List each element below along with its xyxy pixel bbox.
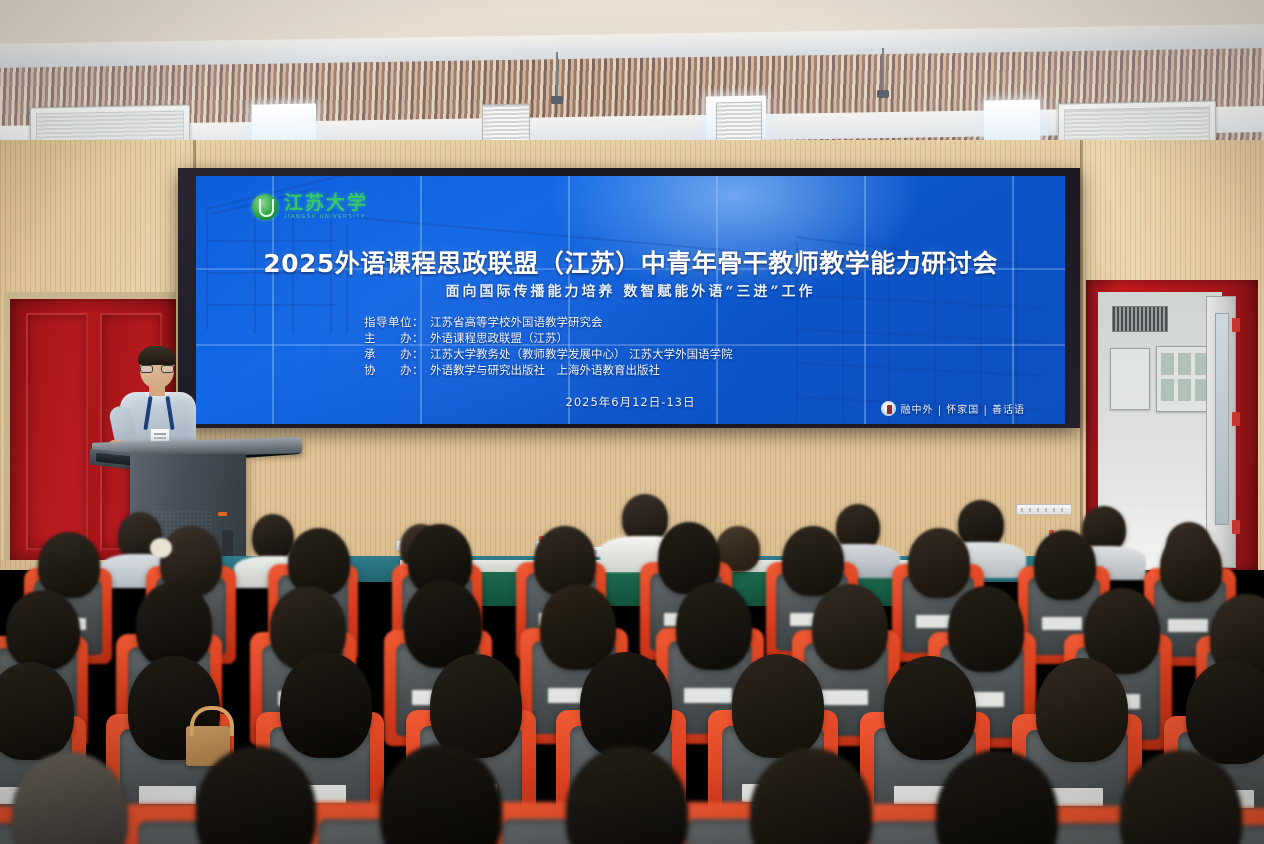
attendee-head — [580, 652, 672, 758]
credit-key: 承 办： — [364, 346, 430, 362]
conference-subtitle: 面向国际传播能力培养 数智赋能外语“三进”工作 — [196, 281, 1065, 301]
credit-line: 主 办： 外语课程思政联盟（江苏） — [364, 330, 924, 346]
attendee-hair-tie — [150, 538, 172, 558]
credit-value: 外语教学与研究出版社 上海外语教育出版社 — [430, 362, 660, 378]
credit-line: 协 办： 外语教学与研究出版社 上海外语教育出版社 — [364, 362, 924, 378]
lecture-hall-photo: 江苏大学 JIANGSU UNIVERSITY 2025外语课程思政联盟（江苏）… — [0, 0, 1264, 844]
board-cell — [1161, 379, 1174, 401]
credit-value: 外语课程思政联盟（江苏） — [430, 330, 568, 346]
attendee-head — [676, 582, 752, 670]
projector-mount-rod — [556, 52, 558, 98]
credit-line: 承 办： 江苏大学教务处（教师教学发展中心） 江苏大学外国语学院 — [364, 346, 924, 362]
attendee-head — [812, 584, 888, 670]
publisher-slogan: 融中外 | 怀家国 | 善话语 — [881, 401, 1025, 416]
board-cell — [1178, 353, 1191, 375]
credit-key: 协 办： — [364, 362, 430, 378]
door-hinge — [1232, 318, 1240, 332]
projector-mount-rod — [882, 48, 884, 92]
attendee-head — [948, 586, 1024, 672]
attendee-head — [252, 514, 294, 560]
attendee-head — [430, 654, 522, 758]
presenter-hair — [138, 346, 176, 365]
board-cell — [1161, 353, 1174, 375]
university-logo: 江苏大学 JIANGSU UNIVERSITY — [252, 194, 368, 220]
attendee-head — [280, 652, 372, 758]
attendee-head — [958, 500, 1004, 548]
publisher-slogan-text: 融中外 | 怀家国 | 善话语 — [901, 401, 1025, 416]
attendee-head — [622, 494, 668, 542]
slide-content: 江苏大学 JIANGSU UNIVERSITY 2025外语课程思政联盟（江苏）… — [196, 176, 1065, 424]
board-cell — [1178, 379, 1191, 401]
attendee-head — [732, 654, 824, 758]
attendee-head — [1186, 660, 1264, 764]
eyeglasses-icon — [140, 365, 174, 373]
attendee-head — [1160, 532, 1222, 602]
projector-mount-head — [877, 90, 889, 98]
projector-mount-head — [551, 96, 563, 104]
credit-key: 指导单位： — [364, 314, 430, 330]
door-hinge — [1232, 412, 1240, 426]
corridor-notice-board — [1110, 348, 1150, 410]
audience-seating — [0, 470, 1264, 844]
ceiling-light-panel — [984, 99, 1040, 142]
attendee-head — [1034, 530, 1096, 600]
publisher-seal-icon — [881, 401, 896, 416]
attendee-head — [288, 528, 350, 596]
credit-value: 江苏大学教务处（教师教学发展中心） 江苏大学外国语学院 — [430, 346, 733, 362]
attendee-head — [1036, 658, 1128, 762]
jiangsu-university-emblem-icon — [252, 194, 278, 220]
attendee-head — [6, 590, 80, 670]
ceiling — [0, 0, 1264, 152]
credit-line: 指导单位： 江苏省高等学校外国语教学研究会 — [364, 314, 924, 330]
conference-title: 2025外语课程思政联盟（江苏）中青年骨干教师教学能力研讨会 — [196, 244, 1065, 280]
attendee-head — [38, 532, 100, 598]
attendee-head — [908, 528, 970, 598]
corridor-vent-grille — [1112, 306, 1168, 332]
university-name-cn: 江苏大学 — [284, 194, 368, 213]
credit-value: 江苏省高等学校外国语教学研究会 — [430, 314, 603, 330]
credit-key: 主 办： — [364, 330, 430, 346]
attendee-head — [884, 656, 976, 760]
organizer-credits: 指导单位： 江苏省高等学校外国语教学研究会 主 办： 外语课程思政联盟（江苏） … — [364, 314, 924, 378]
attendee-head — [782, 526, 844, 596]
university-name-en: JIANGSU UNIVERSITY — [284, 215, 368, 220]
video-wall-display: 江苏大学 JIANGSU UNIVERSITY 2025外语课程思政联盟（江苏）… — [196, 176, 1065, 424]
